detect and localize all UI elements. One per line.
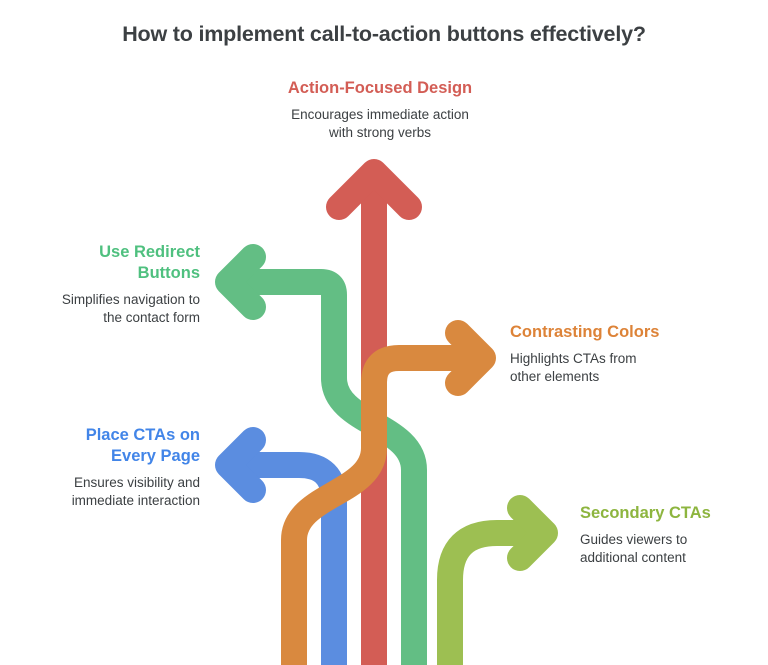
node-desc-secondary-ctas: Guides viewers to additional content — [580, 531, 768, 567]
node-title-line-1: Use Redirect — [99, 243, 200, 261]
node-label-action-focused-design: Action-Focused Design Encourages immedia… — [245, 78, 515, 143]
node-desc-line-1: Guides viewers to — [580, 532, 687, 547]
node-label-place-ctas-on-every-page: Place CTAs on Every Page Ensures visibil… — [22, 425, 200, 511]
node-desc-contrasting-colors: Highlights CTAs from other elements — [510, 350, 745, 386]
node-desc-use-redirect-buttons: Simplifies navigation to the contact for… — [22, 291, 200, 327]
node-desc-action-focused-design: Encourages immediate action with strong … — [245, 106, 515, 142]
arrow-secondary-ctas — [450, 508, 545, 665]
node-desc-place-ctas-on-every-page: Ensures visibility and immediate interac… — [22, 474, 200, 510]
node-desc-line-1: Encourages immediate action — [291, 107, 469, 122]
node-title-secondary-ctas: Secondary CTAs — [580, 503, 768, 524]
node-desc-line-2: with strong verbs — [329, 125, 431, 140]
node-label-use-redirect-buttons: Use Redirect Buttons Simplifies navigati… — [22, 242, 200, 328]
node-desc-line-2: the contact form — [103, 310, 200, 325]
node-label-contrasting-colors: Contrasting Colors Highlights CTAs from … — [510, 322, 745, 387]
node-label-secondary-ctas: Secondary CTAs Guides viewers to additio… — [580, 503, 768, 568]
node-title-line-1: Place CTAs on — [86, 426, 200, 444]
node-title-use-redirect-buttons: Use Redirect Buttons — [22, 242, 200, 284]
node-title-line-2: Every Page — [111, 447, 200, 465]
node-desc-line-1: Simplifies navigation to — [62, 292, 200, 307]
node-title-line-2: Buttons — [138, 264, 200, 282]
node-desc-line-2: other elements — [510, 369, 599, 384]
node-title-contrasting-colors: Contrasting Colors — [510, 322, 745, 343]
node-desc-line-2: immediate interaction — [72, 493, 200, 508]
node-desc-line-1: Highlights CTAs from — [510, 351, 637, 366]
node-desc-line-1: Ensures visibility and — [74, 475, 200, 490]
node-title-place-ctas-on-every-page: Place CTAs on Every Page — [22, 425, 200, 467]
node-title-action-focused-design: Action-Focused Design — [245, 78, 515, 99]
node-desc-line-2: additional content — [580, 550, 686, 565]
